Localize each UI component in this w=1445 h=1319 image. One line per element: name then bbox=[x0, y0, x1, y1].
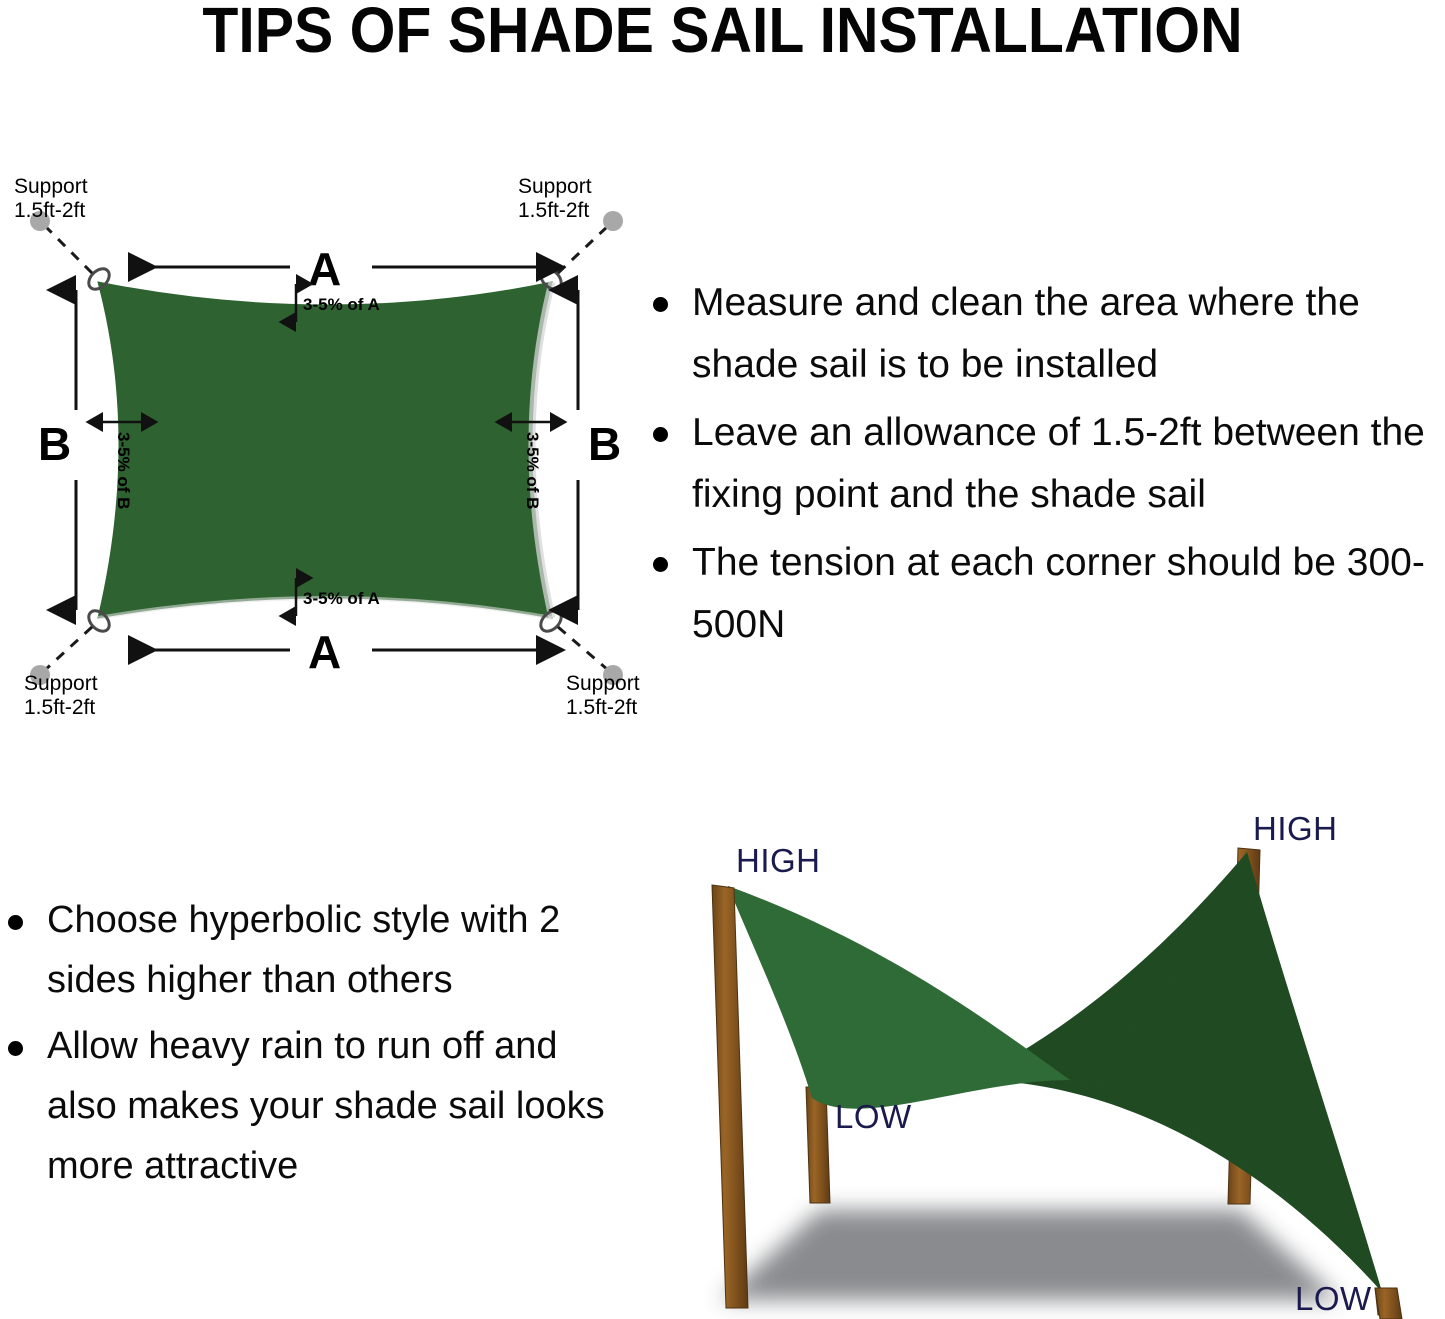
list-item-text: Leave an allowance of 1.5-2ft between th… bbox=[692, 411, 1425, 516]
bullet-dot-icon bbox=[653, 297, 668, 312]
list-item: Allow heavy rain to run off and also mak… bbox=[0, 1016, 620, 1196]
label-low-left: LOW bbox=[835, 1098, 912, 1135]
bullet-dot-icon bbox=[8, 915, 23, 930]
list-item: Choose hyperbolic style with 2 sides hig… bbox=[0, 890, 620, 1010]
dim-label-B-right: B bbox=[588, 418, 621, 470]
curve-label-right: 3-5% of B bbox=[523, 432, 542, 509]
dash-top-right bbox=[558, 226, 608, 273]
list-item-text: Allow heavy rain to run off and also mak… bbox=[47, 1025, 605, 1187]
rect-sail-diagram: Support 1.5ft-2ft Support 1.5ft-2ft Supp… bbox=[0, 160, 660, 730]
label-high-left: HIGH bbox=[736, 842, 821, 879]
support-label-bottom-left-line1: Support bbox=[24, 672, 98, 695]
dim-label-A-bottom: A bbox=[308, 626, 341, 678]
dash-bottom-right bbox=[558, 627, 608, 670]
curve-label-left: 3-5% of B bbox=[114, 432, 133, 509]
tips-list-bottom: Choose hyperbolic style with 2 sides hig… bbox=[0, 890, 620, 1202]
support-label-top-left-line1: Support bbox=[14, 175, 88, 198]
label-low-right: LOW bbox=[1295, 1280, 1372, 1317]
label-high-right: HIGH bbox=[1253, 810, 1338, 847]
list-item-text: Measure and clean the area where the sha… bbox=[692, 281, 1360, 386]
list-item-text: Choose hyperbolic style with 2 sides hig… bbox=[47, 899, 560, 1001]
list-item: Measure and clean the area where the sha… bbox=[645, 272, 1445, 396]
list-item-text: The tension at each corner should be 300… bbox=[692, 541, 1425, 646]
support-dot-top-right bbox=[603, 211, 623, 231]
curve-label-bottom: 3-5% of A bbox=[303, 589, 380, 608]
infographic-page: TIPS OF SHADE SAIL INSTALLATION bbox=[0, 0, 1445, 1319]
dash-bottom-left bbox=[45, 627, 92, 670]
list-item: The tension at each corner should be 300… bbox=[645, 532, 1445, 656]
dim-label-B-left: B bbox=[38, 418, 71, 470]
page-title: TIPS OF SHADE SAIL INSTALLATION bbox=[58, 0, 1387, 68]
bullet-dot-icon bbox=[653, 557, 668, 572]
sail-body bbox=[98, 282, 552, 618]
list-item: Leave an allowance of 1.5-2ft between th… bbox=[645, 402, 1445, 526]
support-label-top-left-line2: 1.5ft-2ft bbox=[14, 199, 85, 222]
hyperbolic-sail-diagram: HIGH HIGH LOW LOW bbox=[640, 780, 1445, 1319]
ground-shadow bbox=[720, 1210, 1340, 1300]
post-left-high bbox=[712, 885, 748, 1308]
support-label-bottom-left-line2: 1.5ft-2ft bbox=[24, 696, 95, 719]
dash-top-left bbox=[45, 226, 92, 273]
support-label-bottom-right-line2: 1.5ft-2ft bbox=[566, 696, 637, 719]
bullet-dot-icon bbox=[653, 427, 668, 442]
support-label-top-right-line1: Support bbox=[518, 175, 592, 198]
support-label-top-right-line2: 1.5ft-2ft bbox=[518, 199, 589, 222]
post-right-low-shaft bbox=[1375, 1288, 1402, 1319]
support-label-bottom-right-line1: Support bbox=[566, 672, 640, 695]
dim-label-A-top: A bbox=[308, 243, 341, 295]
curve-label-top: 3-5% of A bbox=[303, 295, 380, 314]
tips-list-top: Measure and clean the area where the sha… bbox=[645, 272, 1445, 662]
bullet-dot-icon bbox=[8, 1041, 23, 1056]
